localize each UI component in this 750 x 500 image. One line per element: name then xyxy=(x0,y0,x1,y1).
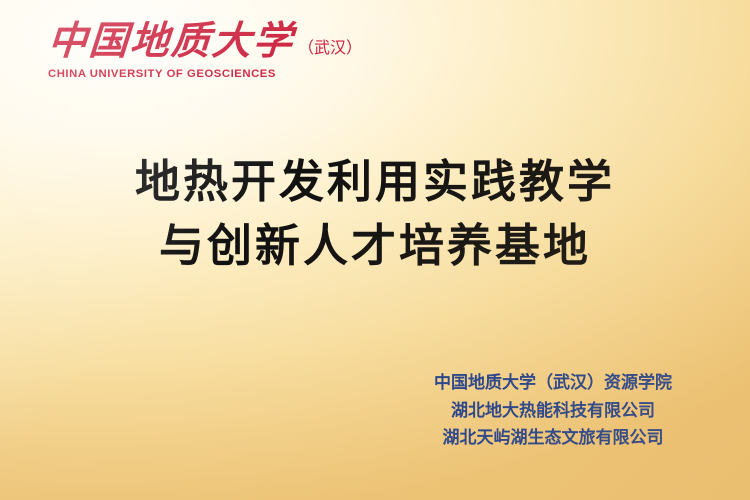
affiliation-list: 中国地质大学（武汉）资源学院 湖北地大热能科技有限公司 湖北天屿湖生态文旅有限公… xyxy=(434,370,672,453)
title-line-2: 与创新人才培养基地 xyxy=(0,214,750,278)
presentation-title-slide: 中国地质大学 （武汉） CHINA UNIVERSITY OF GEOSCIEN… xyxy=(0,0,750,500)
affiliation-item: 中国地质大学（武汉）资源学院 xyxy=(434,370,672,398)
university-logo: 中国地质大学 （武汉） CHINA UNIVERSITY OF GEOSCIEN… xyxy=(48,22,388,80)
affiliation-item: 湖北天屿湖生态文旅有限公司 xyxy=(434,425,672,453)
page-title: 地热开发利用实践教学 与创新人才培养基地 xyxy=(0,150,750,278)
logo-campus-label: （武汉） xyxy=(298,40,362,61)
affiliation-item: 湖北地大热能科技有限公司 xyxy=(434,398,672,426)
logo-english-name: CHINA UNIVERSITY OF GEOSCIENCES xyxy=(48,68,388,80)
title-line-1: 地热开发利用实践教学 xyxy=(0,150,750,214)
logo-chinese-row: 中国地质大学 （武汉） xyxy=(48,22,388,61)
logo-chinese-name: 中国地质大学 xyxy=(47,22,296,61)
